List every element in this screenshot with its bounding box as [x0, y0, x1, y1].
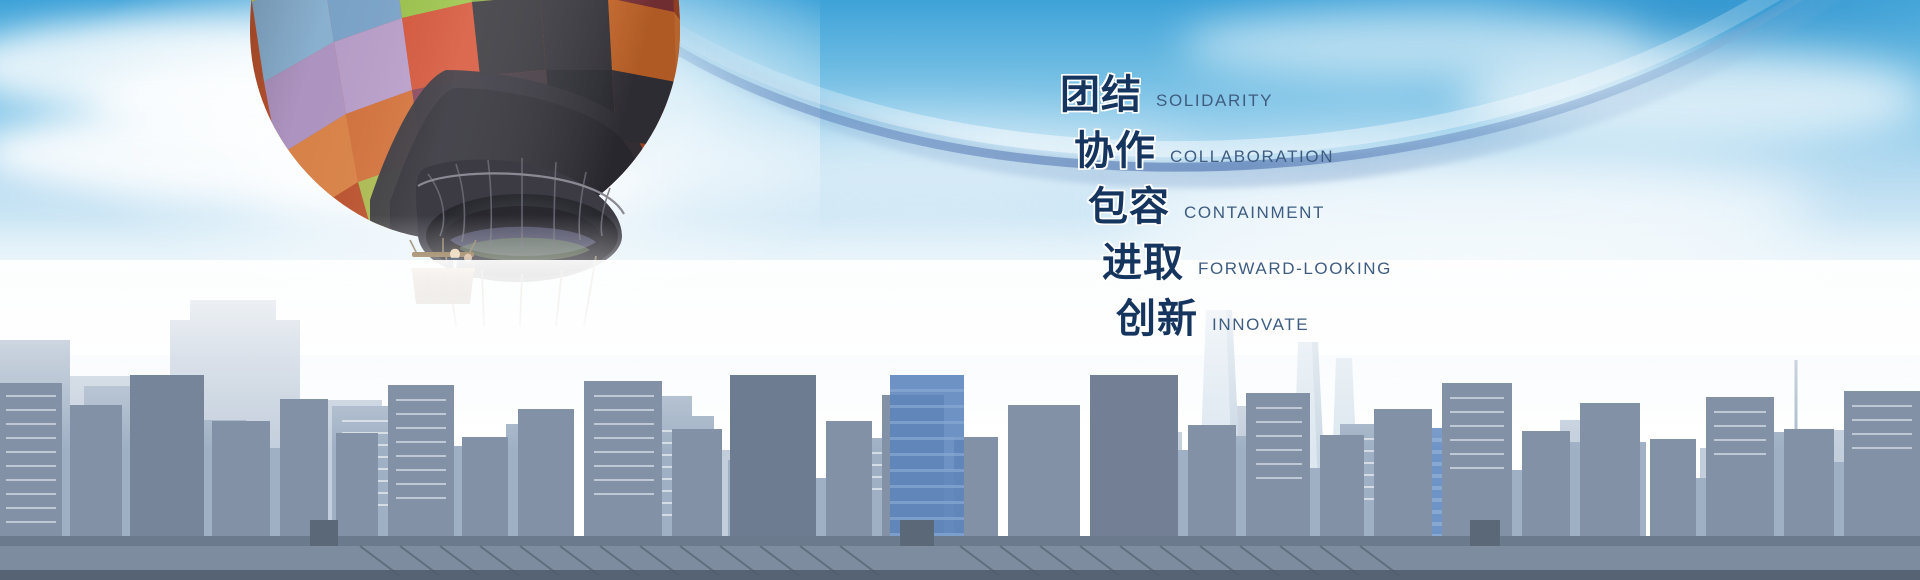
slogan-chinese: 创新: [1116, 286, 1198, 344]
company-values-banner: 团结 SOLIDARITY 协作 COLLABORATION 包容 CONTAI…: [0, 0, 1920, 580]
slogan-chinese: 协作: [1074, 118, 1156, 176]
slogan-english: COLLABORATION: [1170, 147, 1334, 167]
slogan-english: INNOVATE: [1212, 315, 1309, 335]
bridge: [0, 520, 1920, 580]
slogan-item: 创新 INNOVATE: [1116, 286, 1580, 342]
slogan-item: 协作 COLLABORATION: [1074, 118, 1580, 174]
slogan-list: 团结 SOLIDARITY 协作 COLLABORATION 包容 CONTAI…: [1060, 62, 1580, 342]
slogan-english: FORWARD-LOOKING: [1198, 259, 1392, 279]
slogan-item: 团结 SOLIDARITY: [1060, 62, 1580, 118]
slogan-chinese: 团结: [1060, 62, 1142, 120]
slogan-english: SOLIDARITY: [1156, 91, 1273, 111]
slogan-english: CONTAINMENT: [1184, 203, 1325, 223]
slogan-item: 进取 FORWARD-LOOKING: [1102, 230, 1580, 286]
slogan-chinese: 包容: [1088, 174, 1170, 232]
slogan-chinese: 进取: [1102, 230, 1184, 288]
slogan-item: 包容 CONTAINMENT: [1088, 174, 1580, 230]
